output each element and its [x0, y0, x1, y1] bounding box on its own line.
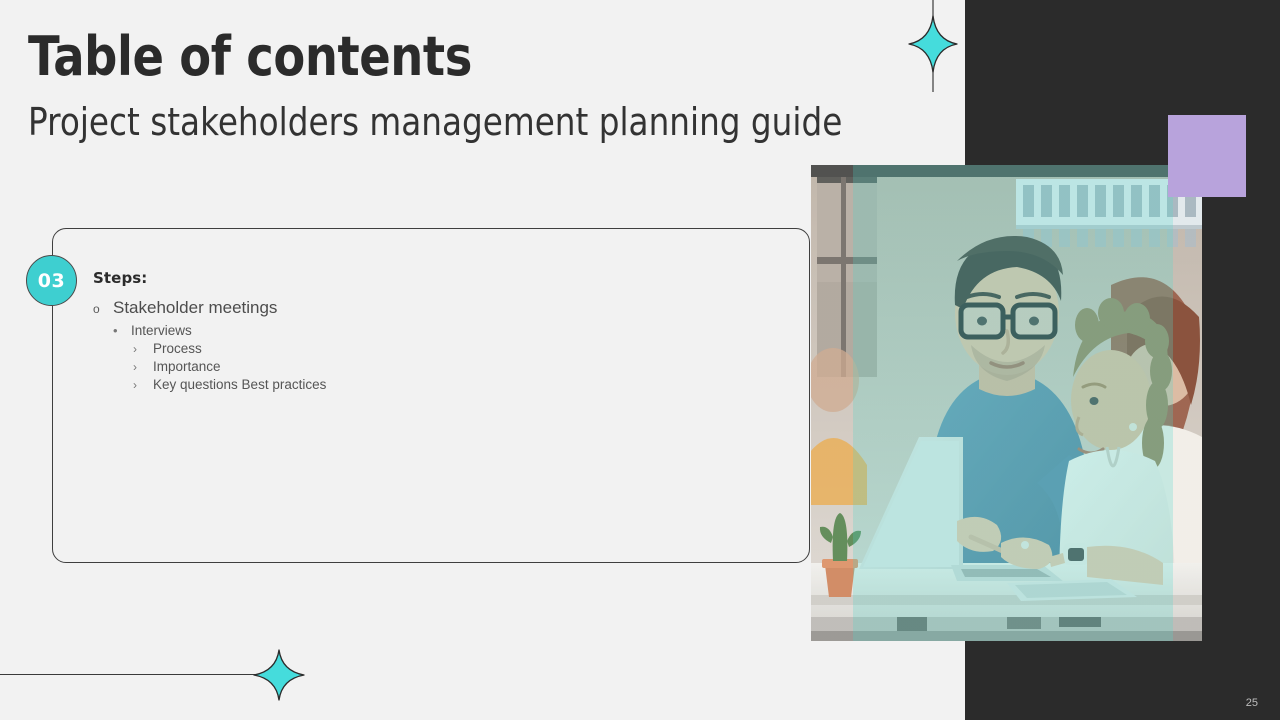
dot-bullet-icon: •	[113, 323, 131, 338]
sparkle-top	[905, 0, 961, 92]
list-item-level3: › Process	[133, 341, 613, 356]
four-point-star-icon	[905, 0, 961, 92]
steps-heading: Steps:	[93, 269, 613, 287]
list-item-level3: › Importance	[133, 359, 613, 374]
list-item-level1-label: Stakeholder meetings	[113, 298, 277, 318]
chevron-right-icon: ›	[133, 378, 153, 392]
content-list: Steps: o Stakeholder meetings • Intervie…	[93, 269, 613, 395]
bottom-accent-line	[0, 674, 279, 675]
step-number-badge: 03	[26, 255, 77, 306]
list-item-level2-label: Interviews	[131, 323, 192, 338]
team-photo	[811, 165, 1202, 641]
list-item-level3-label: Process	[153, 341, 202, 356]
list-item-level2: • Interviews	[113, 323, 613, 338]
list-item-level3-label: Importance	[153, 359, 221, 374]
chevron-right-icon: ›	[133, 360, 153, 374]
list-item-level3: › Key questions Best practices	[133, 377, 613, 392]
four-point-star-icon	[252, 648, 306, 702]
circle-bullet-icon: o	[93, 302, 113, 316]
purple-accent-square	[1168, 115, 1246, 197]
sparkle-bottom	[252, 648, 306, 702]
list-item-level3-label: Key questions Best practices	[153, 377, 326, 392]
page-number: 25	[1246, 697, 1258, 709]
slide-canvas: Table of contents Project stakeholders m…	[0, 0, 1280, 720]
chevron-right-icon: ›	[133, 342, 153, 356]
step-number-label: 03	[38, 270, 65, 292]
photo-teal-overlay	[811, 165, 1202, 641]
list-item-level1: o Stakeholder meetings	[93, 298, 613, 318]
page-title: Table of contents	[28, 24, 472, 90]
page-subtitle: Project stakeholders management planning…	[28, 99, 842, 145]
